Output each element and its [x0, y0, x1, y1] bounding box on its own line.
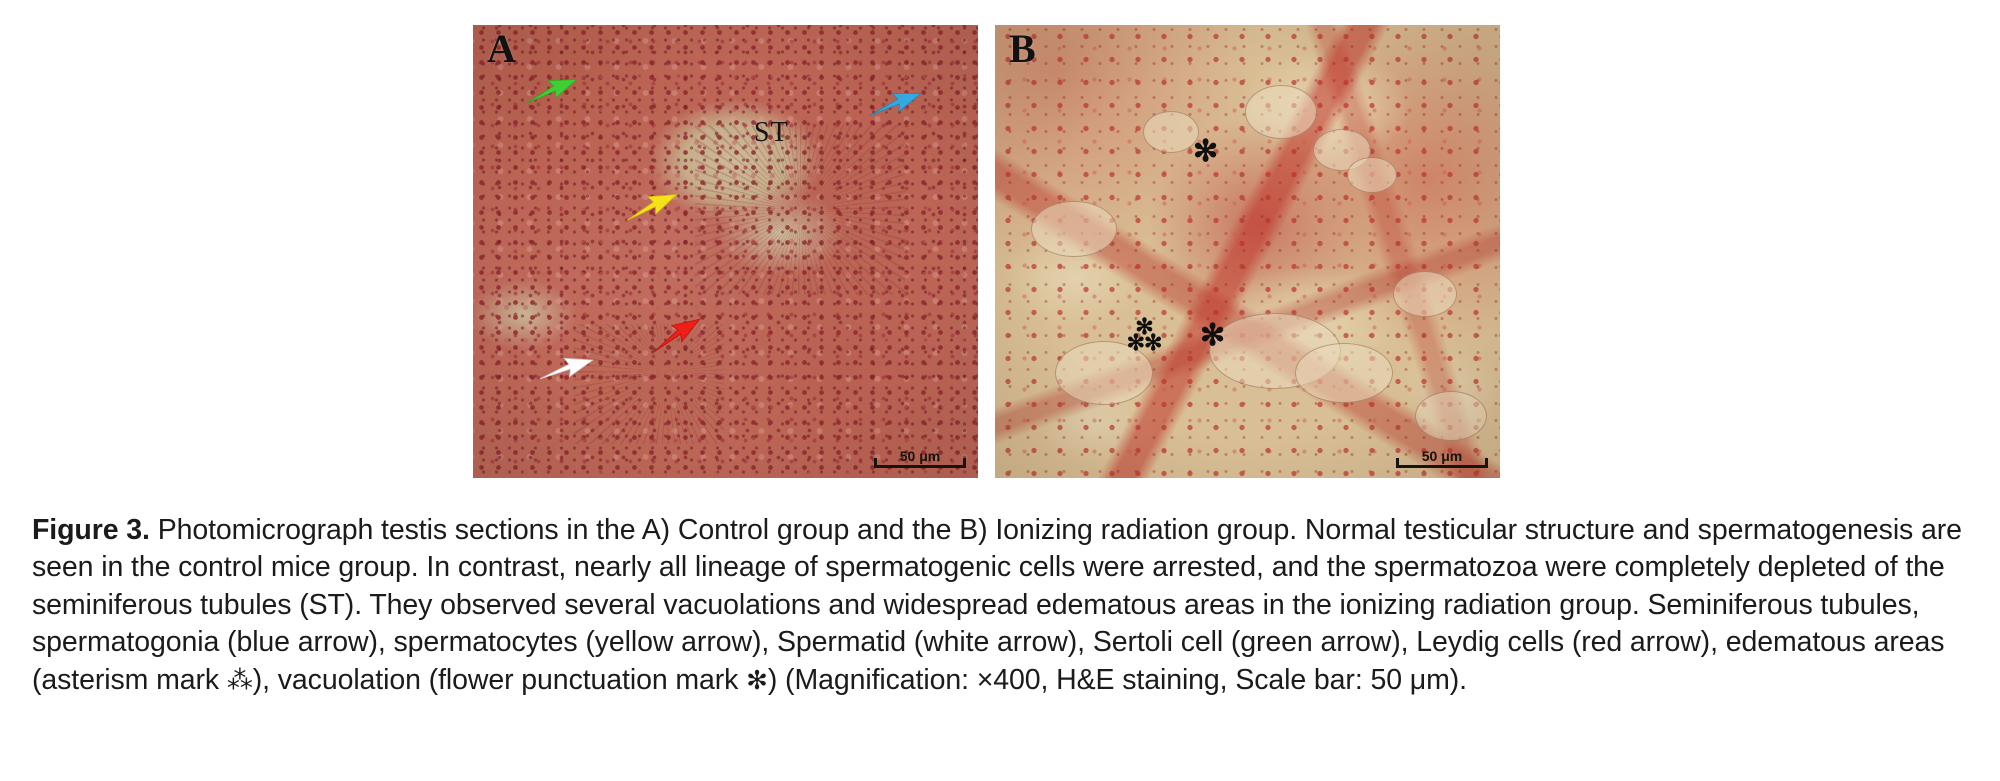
panel-b-scale-bar-tick-right: [1485, 458, 1488, 468]
panel-b-scale-bar: 50 μm: [1396, 446, 1488, 468]
panel-a-control-group[interactable]: A ST: [473, 25, 978, 478]
figure-container: A ST: [0, 0, 2000, 781]
figure-caption-label: Figure 3.: [32, 514, 150, 546]
flower-punctuation-mark-glyph: ✻: [746, 666, 768, 695]
asterisk-vacuolation-top-icon: ✻: [1193, 137, 1218, 167]
panel-a-scale-bar-tick-right: [963, 458, 966, 468]
panel-b-letter: B: [1009, 27, 1036, 71]
asterisk-vacuolation-mid-icon: ✻: [1200, 321, 1225, 351]
panel-b-scale-bar-tick-left: [1396, 458, 1399, 468]
panel-b-scale-bar-line: [1396, 465, 1488, 468]
panel-a-st-label: ST: [754, 117, 789, 149]
micrograph-panel-row: A ST: [473, 25, 1500, 478]
figure-caption: Figure 3. Photomicrograph testis section…: [32, 512, 1972, 699]
asterism-edematous-area-icon: ✻ ✻✻: [1121, 316, 1167, 358]
panel-b-vacuole-outlines: [995, 25, 1500, 478]
asterism-row-bottom: ✻✻: [1121, 332, 1167, 354]
panel-a-scale-bar-line: [874, 465, 966, 468]
panel-a-letter: A: [487, 27, 516, 71]
figure-caption-tail: ) (Magnification: ×400, H&E staining, Sc…: [768, 664, 1467, 696]
asterism-mark-glyph: ⁂: [227, 666, 253, 695]
panel-b-ionizing-radiation-group[interactable]: B ✻ ✻ ✻✻ ✻ 50 μm: [995, 25, 1500, 478]
panel-a-spermatozoa-tails: [695, 125, 905, 295]
panel-a-scale-bar-tick-left: [874, 458, 877, 468]
panel-a-scale-bar: 50 μm: [874, 446, 966, 468]
figure-caption-mid: ), vacuolation (flower punctuation mark: [253, 664, 746, 696]
panel-b-scale-bar-label: 50 μm: [1396, 448, 1488, 464]
panel-a-scale-bar-label: 50 μm: [874, 448, 966, 464]
